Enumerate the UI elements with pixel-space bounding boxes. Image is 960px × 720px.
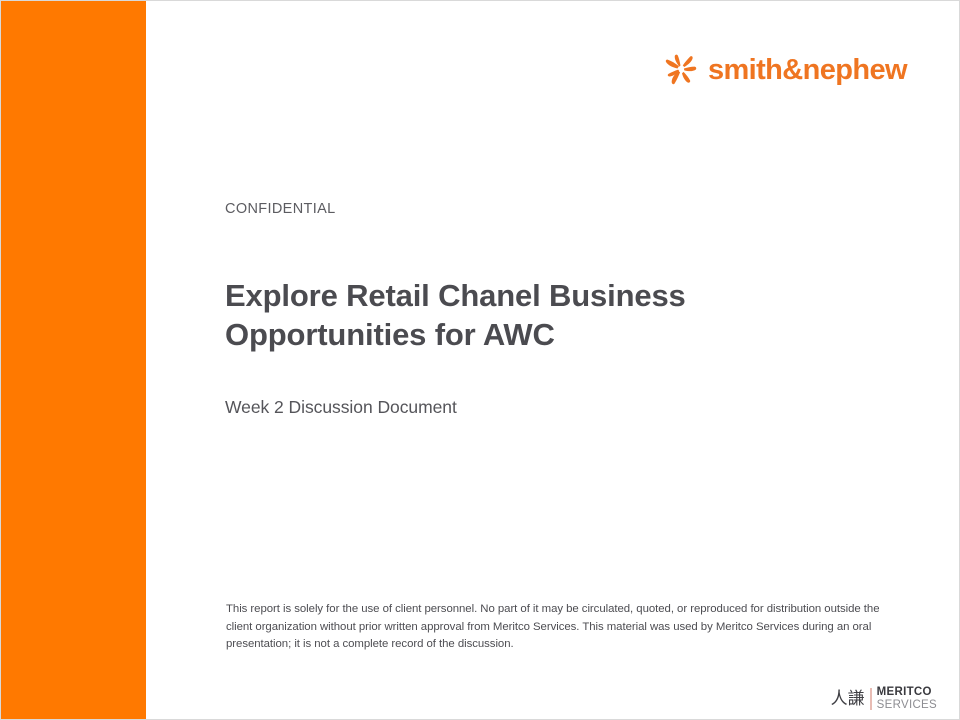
- confidential-label: CONFIDENTIAL: [225, 201, 336, 218]
- slide-content: CONFIDENTIAL Explore Retail Chanel Busin…: [225, 1, 915, 720]
- meritco-services-logo: 人謙 MERITCO SERVICES: [831, 687, 937, 711]
- meritco-cjk-mark: 人謙: [831, 691, 865, 708]
- logo-divider: [870, 688, 872, 710]
- page-title: Explore Retail Chanel Business Opportuni…: [225, 277, 795, 355]
- presentation-slide: smith&nephew CONFIDENTIAL Explore Retail…: [0, 0, 960, 720]
- meritco-company-name: MERITCO: [877, 687, 937, 699]
- slide-subtitle: Week 2 Discussion Document: [225, 396, 457, 419]
- meritco-company-suffix: SERVICES: [877, 700, 937, 712]
- orange-sidebar-band: [1, 1, 146, 720]
- disclaimer-text: This report is solely for the use of cli…: [226, 601, 886, 653]
- meritco-wordmark: MERITCO SERVICES: [877, 687, 937, 711]
